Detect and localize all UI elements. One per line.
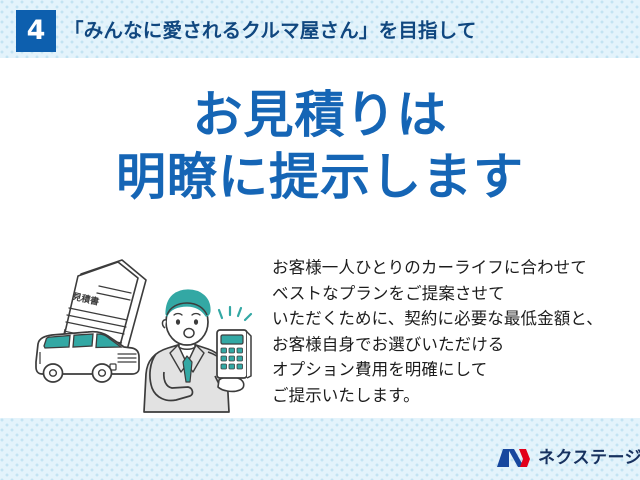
headline-line-2: 明瞭に提示します [0,146,640,208]
nextage-wordmark: ネクステージ [538,447,640,469]
page-headline: お見積りは 明瞭に提示します [0,84,640,208]
calculator-icon [217,330,251,378]
nextage-logo: ネクステージ [497,443,640,473]
body-copy: お客様一人ひとりのカーライフに合わせて ベストなプランをご提案させて いただくた… [272,255,632,408]
header-title: 「みんなに愛されるクルマ屋さん」を目指して [64,16,477,46]
body-copy-line-5: オプション費用を明確にして [272,357,632,383]
body-copy-line-3: いただくために、契約に必要な最低金額と、 [272,306,632,332]
promo-slide: 4 「みんなに愛されるクルマ屋さん」を目指して お見積りは 明瞭に提示します 見… [0,0,640,480]
headline-line-1: お見積りは [0,84,640,146]
sparkle-icon [219,307,251,320]
nextage-logo-mark-icon [497,447,531,469]
header-step-badge: 4 [16,10,56,52]
salesman-illustration: 見積書 [26,252,268,416]
body-copy-line-4: お客様自身でお選びいただける [272,332,632,358]
body-copy-line-6: ご提示いたします。 [272,383,632,409]
body-copy-line-1: お客様一人ひとりのカーライフに合わせて [272,255,632,281]
body-copy-line-2: ベストなプランをご提案させて [272,281,632,307]
